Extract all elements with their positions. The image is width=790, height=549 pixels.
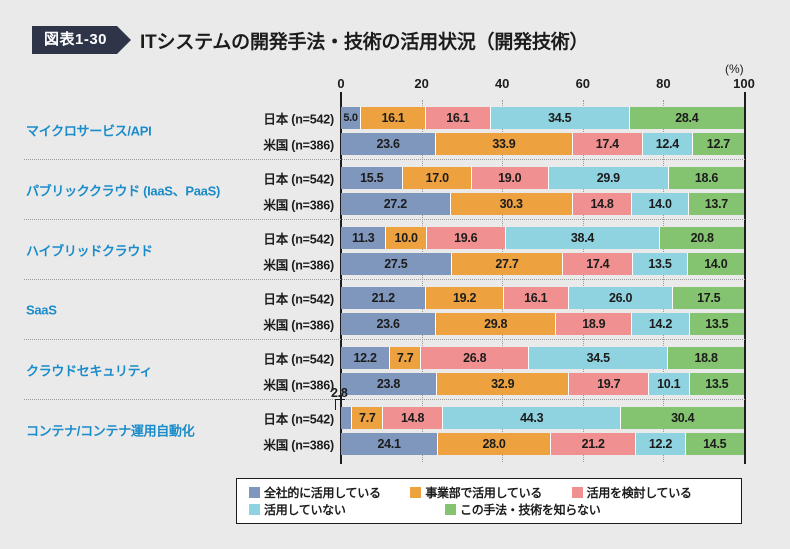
data-row: 米国 (n=386)27.230.314.814.013.7 <box>0 193 790 215</box>
bar-segment: 18.8 <box>668 347 744 369</box>
category-group: コンテナ/コンテナ運用自動化日本 (n=542)2.82.87.714.844.… <box>0 400 790 460</box>
data-row: 日本 (n=542)2.82.87.714.844.330.4 <box>0 407 790 429</box>
legend-row-2: 活用していないこの手法・技術を知らない <box>249 501 733 518</box>
bar-segment: 20.8 <box>660 227 744 249</box>
legend-item: この手法・技術を知らない <box>445 501 641 518</box>
category-group: マイクロサービス/API日本 (n=542)5.016.116.134.528.… <box>0 100 790 160</box>
stacked-bar: 27.527.717.413.514.0 <box>341 253 744 275</box>
axis-unit-label: (%) <box>725 62 744 76</box>
data-row: 日本 (n=542)5.016.116.134.528.4 <box>0 107 790 129</box>
legend-label: 活用していない <box>264 501 346 518</box>
bar-segment: 23.6 <box>341 313 436 335</box>
bar-segment: 38.4 <box>506 227 661 249</box>
bar-segment: 27.5 <box>341 253 452 275</box>
bar-segment: 30.4 <box>621 407 744 429</box>
row-series-label: 米国 (n=386) <box>263 315 334 334</box>
stacked-bar: 5.016.116.134.528.4 <box>341 107 744 129</box>
bar-segment: 16.1 <box>361 107 426 129</box>
bar-segment: 23.6 <box>341 133 436 155</box>
bar-segment: 16.1 <box>426 107 491 129</box>
bar-segment: 16.1 <box>504 287 569 309</box>
bar-segment: 29.8 <box>436 313 556 335</box>
data-row: 日本 (n=542)11.310.019.638.420.8 <box>0 227 790 249</box>
stacked-bar: 21.219.216.126.017.5 <box>341 287 744 309</box>
bar-segment: 19.0 <box>472 167 549 189</box>
bar-segment: 14.2 <box>632 313 689 335</box>
legend-swatch-icon <box>445 504 456 515</box>
bar-segment: 14.8 <box>573 193 633 215</box>
bar-segment: 18.6 <box>669 167 744 189</box>
bar-segment: 27.2 <box>341 193 451 215</box>
x-axis-tick-80: 80 <box>656 76 670 91</box>
data-row: 日本 (n=542)21.219.216.126.017.5 <box>0 287 790 309</box>
row-series-label: 米国 (n=386) <box>263 255 334 274</box>
x-axis-tick-100: 100 <box>733 76 755 91</box>
bar-segment: 18.9 <box>556 313 632 335</box>
row-series-label: 米国 (n=386) <box>263 195 334 214</box>
stacked-bar: 27.230.314.814.013.7 <box>341 193 744 215</box>
bar-segment: 30.3 <box>451 193 573 215</box>
data-row: 日本 (n=542)12.27.726.834.518.8 <box>0 347 790 369</box>
legend-label: 事業部で活用している <box>425 484 542 501</box>
legend-label: この手法・技術を知らない <box>460 501 600 518</box>
bar-segment: 26.0 <box>569 287 674 309</box>
x-axis-tick-60: 60 <box>576 76 590 91</box>
bar-segment: 34.5 <box>529 347 668 369</box>
row-series-label: 米国 (n=386) <box>263 435 334 454</box>
legend-label: 全社的に活用している <box>264 484 381 501</box>
stacked-bar: 24.128.021.212.214.5 <box>341 433 744 455</box>
bar-segment: 2.8 <box>341 407 352 429</box>
row-series-label: 日本 (n=542) <box>263 349 334 368</box>
data-row: 米国 (n=386)23.629.818.914.213.5 <box>0 313 790 335</box>
stacked-bar: 2.87.714.844.330.4 <box>341 407 744 429</box>
legend-swatch-icon <box>249 504 260 515</box>
stacked-bar: 23.629.818.914.213.5 <box>341 313 744 335</box>
bar-segment: 23.8 <box>341 373 437 395</box>
x-axis-tick-40: 40 <box>495 76 509 91</box>
stacked-bar: 11.310.019.638.420.8 <box>341 227 744 249</box>
bar-segment: 13.5 <box>690 313 744 335</box>
category-group: クラウドセキュリティ日本 (n=542)12.27.726.834.518.8米… <box>0 340 790 400</box>
bar-segment: 14.0 <box>632 193 688 215</box>
bar-segment: 32.9 <box>437 373 570 395</box>
bar-segment: 26.8 <box>421 347 529 369</box>
bar-segment: 13.5 <box>690 373 744 395</box>
chart-legend: 全社的に活用している事業部で活用している活用を検討している 活用していないこの手… <box>236 478 742 524</box>
row-series-label: 日本 (n=542) <box>263 229 334 248</box>
legend-item: 事業部で活用している <box>410 484 571 501</box>
bar-segment: 7.7 <box>390 347 421 369</box>
row-series-label: 日本 (n=542) <box>263 289 334 308</box>
legend-label: 活用を検討している <box>587 484 692 501</box>
legend-item: 活用を検討している <box>572 484 733 501</box>
bar-segment: 21.2 <box>551 433 636 455</box>
chart-plot-area: (%) 020406080100 マイクロサービス/API日本 (n=542)5… <box>0 0 790 549</box>
bar-segment: 17.4 <box>573 133 643 155</box>
bar-segment: 12.7 <box>693 133 744 155</box>
data-row: 米国 (n=386)27.527.717.413.514.0 <box>0 253 790 275</box>
bar-segment: 21.2 <box>341 287 426 309</box>
bar-segment: 10.1 <box>649 373 690 395</box>
row-series-label: 日本 (n=542) <box>263 109 334 128</box>
legend-swatch-icon <box>410 487 421 498</box>
bar-segment: 19.7 <box>569 373 648 395</box>
legend-item: 活用していない <box>249 501 445 518</box>
bar-segment: 27.7 <box>452 253 564 275</box>
bar-segment: 17.5 <box>673 287 744 309</box>
category-group: パブリッククラウド (IaaS、PaaS)日本 (n=542)15.517.01… <box>0 160 790 220</box>
bar-segment: 19.6 <box>427 227 506 249</box>
stacked-bar: 23.832.919.710.113.5 <box>341 373 744 395</box>
bar-segment: 24.1 <box>341 433 438 455</box>
bar-segment: 34.5 <box>491 107 630 129</box>
legend-item: 全社的に活用している <box>249 484 410 501</box>
bar-segment: 33.9 <box>436 133 573 155</box>
bar-segment: 12.2 <box>341 347 390 369</box>
data-row: 米国 (n=386)23.832.919.710.113.5 <box>0 373 790 395</box>
row-series-label: 米国 (n=386) <box>263 375 334 394</box>
row-series-label: 日本 (n=542) <box>263 169 334 188</box>
bar-segment: 13.5 <box>633 253 687 275</box>
bar-segment: 10.0 <box>386 227 426 249</box>
bar-segment: 17.4 <box>563 253 633 275</box>
bar-segment: 14.5 <box>686 433 744 455</box>
value-callout: 2.8 <box>331 386 347 400</box>
bar-segment: 14.0 <box>688 253 744 275</box>
bar-segment: 15.5 <box>341 167 403 189</box>
bar-segment: 13.7 <box>689 193 744 215</box>
value-callout-leader-line <box>335 399 345 410</box>
bar-segment: 14.8 <box>383 407 443 429</box>
x-axis-tick-0: 0 <box>337 76 344 91</box>
category-group: SaaS日本 (n=542)21.219.216.126.017.5米国 (n=… <box>0 280 790 340</box>
stacked-bar: 15.517.019.029.918.6 <box>341 167 744 189</box>
bar-segment: 19.2 <box>426 287 503 309</box>
stacked-bar: 12.27.726.834.518.8 <box>341 347 744 369</box>
data-row: 米国 (n=386)23.633.917.412.412.7 <box>0 133 790 155</box>
bar-segment: 12.4 <box>643 133 693 155</box>
bar-segment: 11.3 <box>341 227 386 249</box>
bar-segment: 28.0 <box>438 433 551 455</box>
row-series-label: 米国 (n=386) <box>263 135 334 154</box>
stacked-bar: 23.633.917.412.412.7 <box>341 133 744 155</box>
bar-segment: 7.7 <box>352 407 383 429</box>
data-row: 米国 (n=386)24.128.021.212.214.5 <box>0 433 790 455</box>
bar-segment: 28.4 <box>630 107 744 129</box>
row-series-label: 日本 (n=542) <box>263 409 334 428</box>
legend-row-1: 全社的に活用している事業部で活用している活用を検討している <box>249 484 733 501</box>
bar-segment: 5.0 <box>341 107 361 129</box>
legend-swatch-icon <box>249 487 260 498</box>
bar-segment: 12.2 <box>636 433 685 455</box>
bar-segment: 29.9 <box>549 167 669 189</box>
x-axis-tick-20: 20 <box>414 76 428 91</box>
category-group: ハイブリッドクラウド日本 (n=542)11.310.019.638.420.8… <box>0 220 790 280</box>
chart-rows: マイクロサービス/API日本 (n=542)5.016.116.134.528.… <box>0 100 790 460</box>
legend-swatch-icon <box>572 487 583 498</box>
bar-segment: 44.3 <box>443 407 622 429</box>
data-row: 日本 (n=542)15.517.019.029.918.6 <box>0 167 790 189</box>
bar-segment: 17.0 <box>403 167 472 189</box>
